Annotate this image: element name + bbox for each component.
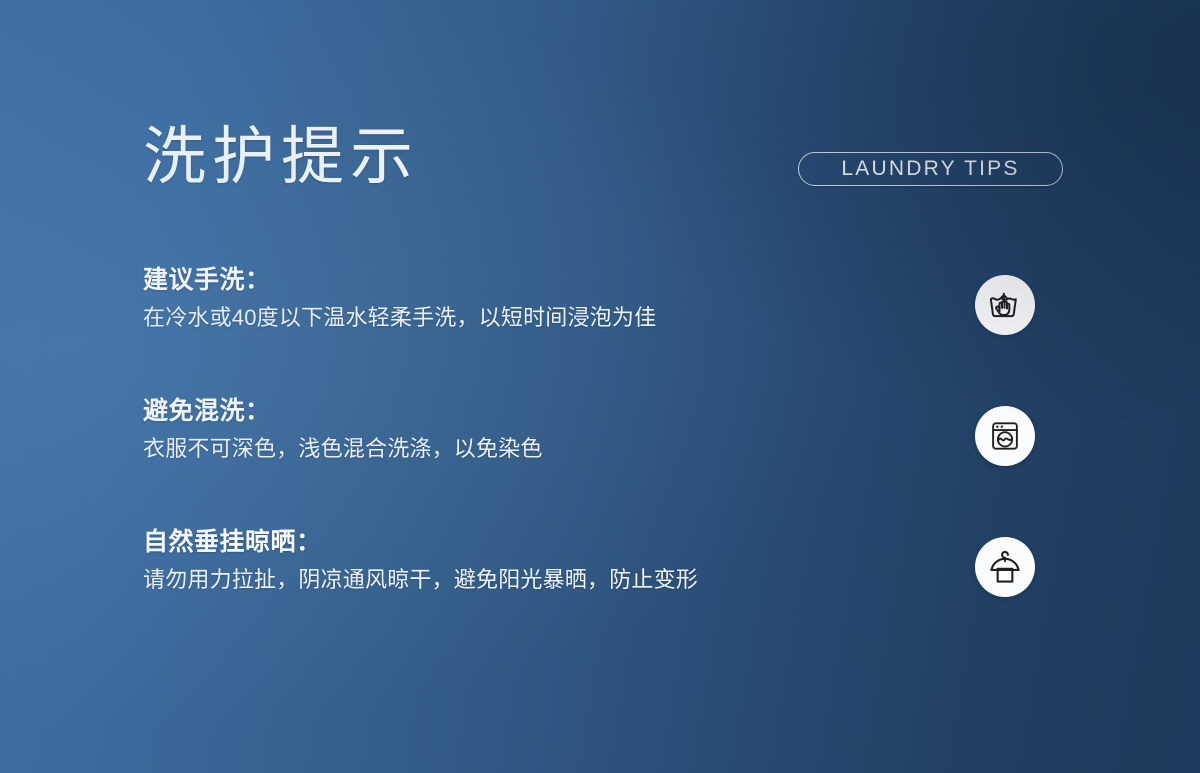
clothes-hanger-icon: [975, 537, 1035, 597]
tip-heading: 自然垂挂晾晒：: [143, 524, 943, 560]
tip-row: 避免混洗： 衣服不可深色，浅色混合洗涤，以免染色: [143, 393, 1063, 524]
tip-detail: 衣服不可深色，浅色混合洗涤，以免染色: [143, 433, 943, 465]
hand-wash-icon: [975, 275, 1035, 335]
washing-machine-icon: [975, 406, 1035, 466]
tip-heading: 建议手洗：: [143, 262, 943, 298]
tip-text-block: 自然垂挂晾晒： 请勿用力拉扯，阴凉通风晾干，避免阳光暴晒，防止变形: [143, 524, 943, 596]
tip-heading: 避免混洗：: [143, 393, 943, 429]
laundry-tips-card: 洗护提示 LAUNDRY TIPS 建议手洗： 在冷水或40度以下温水轻柔手洗，…: [0, 0, 1200, 773]
tip-detail: 在冷水或40度以下温水轻柔手洗，以短时间浸泡为佳: [143, 302, 943, 334]
tip-row: 建议手洗： 在冷水或40度以下温水轻柔手洗，以短时间浸泡为佳: [143, 262, 1063, 393]
tip-text-block: 建议手洗： 在冷水或40度以下温水轻柔手洗，以短时间浸泡为佳: [143, 262, 943, 334]
laundry-tips-badge-label: LAUNDRY TIPS: [841, 157, 1019, 181]
header: 洗护提示 LAUNDRY TIPS: [143, 118, 1063, 202]
tips-list: 建议手洗： 在冷水或40度以下温水轻柔手洗，以短时间浸泡为佳: [143, 262, 1063, 655]
tip-text-block: 避免混洗： 衣服不可深色，浅色混合洗涤，以免染色: [143, 393, 943, 465]
laundry-tips-badge: LAUNDRY TIPS: [798, 152, 1063, 186]
page-title: 洗护提示: [143, 118, 419, 196]
tip-row: 自然垂挂晾晒： 请勿用力拉扯，阴凉通风晾干，避免阳光暴晒，防止变形: [143, 524, 1063, 655]
tip-detail: 请勿用力拉扯，阴凉通风晾干，避免阳光暴晒，防止变形: [143, 564, 943, 596]
